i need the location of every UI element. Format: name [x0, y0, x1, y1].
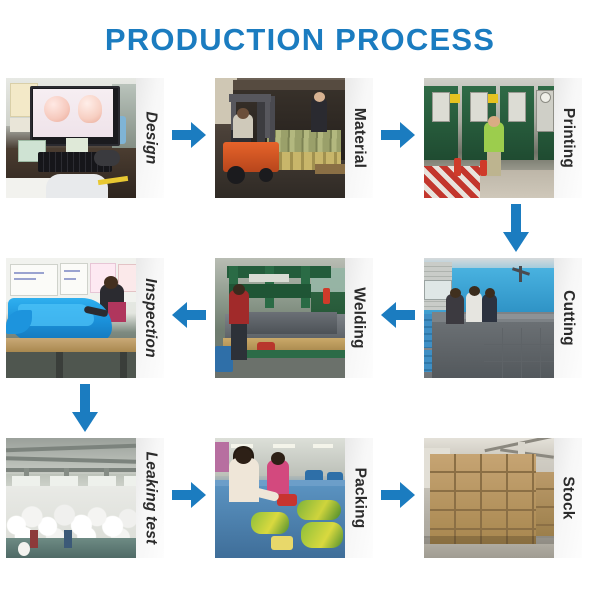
production-process-board: PRODUCTION PROCESS — [0, 0, 600, 600]
step-label-strip-inspection: Inspection — [136, 258, 164, 378]
step-panel-leaking-test[interactable]: Leaking test — [6, 438, 164, 558]
arrow-material-to-printing — [381, 122, 415, 148]
step-panel-welding[interactable]: Welding — [215, 258, 373, 378]
step-photo-design — [6, 78, 136, 198]
step-panel-design[interactable]: Design — [6, 78, 164, 198]
arrow-design-to-material — [172, 122, 206, 148]
step-label-leaking-test: Leaking test — [141, 452, 159, 545]
step-photo-cutting — [424, 258, 554, 378]
step-panel-material[interactable]: Material — [215, 78, 373, 198]
step-label-strip-packing: Packing — [345, 438, 373, 558]
page-title: PRODUCTION PROCESS — [0, 22, 600, 58]
step-photo-printing — [424, 78, 554, 198]
arrow-packing-to-stock — [381, 482, 415, 508]
step-photo-inspection — [6, 258, 136, 378]
step-panel-printing[interactable]: Printing — [424, 78, 582, 198]
step-label-inspection: Inspection — [141, 278, 159, 358]
step-label-strip-welding: Welding — [345, 258, 373, 378]
step-label-cutting: Cutting — [559, 290, 577, 346]
step-photo-stock — [424, 438, 554, 558]
step-label-strip-printing: Printing — [554, 78, 582, 198]
arrow-cutting-to-welding — [381, 302, 415, 328]
step-label-strip-cutting: Cutting — [554, 258, 582, 378]
step-label-welding: Welding — [350, 287, 368, 348]
step-label-strip-leaking-test: Leaking test — [136, 438, 164, 558]
step-photo-leaking-test — [6, 438, 136, 558]
step-label-printing: Printing — [559, 108, 577, 168]
arrow-printing-to-cutting — [503, 204, 529, 252]
step-label-packing: Packing — [350, 468, 368, 529]
step-label-stock: Stock — [559, 476, 577, 519]
step-label-strip-stock: Stock — [554, 438, 582, 558]
step-label-material: Material — [350, 108, 368, 168]
arrow-leaking-test-to-packing — [172, 482, 206, 508]
step-panel-packing[interactable]: Packing — [215, 438, 373, 558]
step-panel-cutting[interactable]: Cutting — [424, 258, 582, 378]
arrow-inspection-to-leaking-test — [72, 384, 98, 432]
step-panel-inspection[interactable]: Inspection — [6, 258, 164, 378]
step-label-strip-material: Material — [345, 78, 373, 198]
step-label-design: Design — [141, 112, 159, 165]
step-panel-stock[interactable]: Stock — [424, 438, 582, 558]
step-photo-material — [215, 78, 345, 198]
step-label-strip-design: Design — [136, 78, 164, 198]
arrow-welding-to-inspection — [172, 302, 206, 328]
step-photo-welding — [215, 258, 345, 378]
step-photo-packing — [215, 438, 345, 558]
